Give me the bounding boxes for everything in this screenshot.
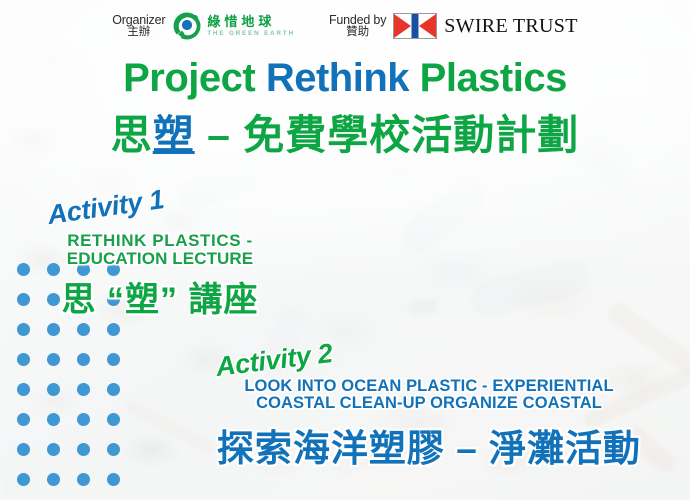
- dot: [107, 323, 120, 336]
- activity-1-title-zh: 思 “塑” 講座: [35, 272, 285, 321]
- dot: [17, 263, 30, 276]
- activity-2-subtitle-line2: COASTAL CLEAN-UP ORGANIZE COASTAL: [256, 394, 602, 412]
- dot: [47, 353, 60, 366]
- dot: [47, 443, 60, 456]
- title-zh-si: 思: [111, 112, 153, 158]
- dot: [17, 383, 30, 396]
- green-earth-name-en: THE GREEN EARTH: [207, 31, 295, 37]
- swire-trust-logo: SWIRE TRUST: [393, 13, 578, 39]
- title-zh-su: 塑: [153, 112, 195, 158]
- activity-1-subtitle-en: RETHINK PLASTICS - EDUCATION LECTURE: [35, 232, 285, 268]
- activity-2-title-zh: 探索海洋塑膠 – 淨灘活動: [198, 418, 660, 472]
- dot: [47, 413, 60, 426]
- green-earth-name-zh: 綠惜地球: [207, 15, 295, 28]
- poster-title-en: Project Rethink Plastics: [0, 56, 690, 101]
- dot: [77, 323, 90, 336]
- organizer-label-zh: 主辦: [112, 27, 165, 39]
- dot: [77, 473, 90, 486]
- dot: [107, 443, 120, 456]
- title-en-plastics: Plastics: [409, 56, 567, 100]
- dot: [47, 383, 60, 396]
- activity-2-subtitle-line1: LOOK INTO OCEAN PLASTIC - EXPERIENTIAL: [244, 377, 613, 395]
- activity-1-subtitle-line2: EDUCATION LECTURE: [67, 249, 254, 268]
- dot: [107, 413, 120, 426]
- activity-2-subtitle-en: LOOK INTO OCEAN PLASTIC - EXPERIENTIAL C…: [198, 378, 660, 413]
- dot: [77, 353, 90, 366]
- swire-trust-wordmark: SWIRE TRUST: [444, 15, 578, 38]
- dot: [17, 473, 30, 486]
- title-en-rethink: Rethink: [266, 56, 409, 100]
- green-earth-logo: 綠惜地球 THE GREEN EARTH: [172, 11, 295, 41]
- dot: [47, 473, 60, 486]
- poster-title-zh: 思塑 – 免費學校活動計劃: [0, 101, 690, 161]
- funder-label-zh: 贊助: [329, 27, 386, 39]
- dot: [17, 413, 30, 426]
- title-zh-rest: – 免費學校活動計劃: [195, 112, 580, 158]
- organizer-credit: Organizer 主辦 綠惜地球 THE GREEN EARTH: [112, 11, 295, 41]
- dot: [77, 443, 90, 456]
- title-en-project: Project: [123, 56, 266, 100]
- organizer-label-en: Organizer: [112, 14, 165, 27]
- dot: [17, 353, 30, 366]
- activity-1-subtitle-line1: RETHINK PLASTICS -: [67, 231, 253, 250]
- poster-canvas: Organizer 主辦 綠惜地球 THE GREEN EARTH: [0, 0, 690, 500]
- sponsor-header: Organizer 主辦 綠惜地球 THE GREEN EARTH: [0, 0, 690, 52]
- dot: [17, 323, 30, 336]
- dot: [107, 353, 120, 366]
- dot: [107, 473, 120, 486]
- dot: [17, 293, 30, 306]
- dot: [77, 383, 90, 396]
- dot: [17, 443, 30, 456]
- funder-credit: Funded by 贊助 SWIRE TRUST: [329, 13, 578, 39]
- green-earth-circle-icon: [172, 11, 202, 41]
- funder-label-en: Funded by: [329, 14, 386, 27]
- dot: [77, 413, 90, 426]
- swire-flag-icon: [393, 13, 437, 39]
- dot: [47, 323, 60, 336]
- dot: [107, 383, 120, 396]
